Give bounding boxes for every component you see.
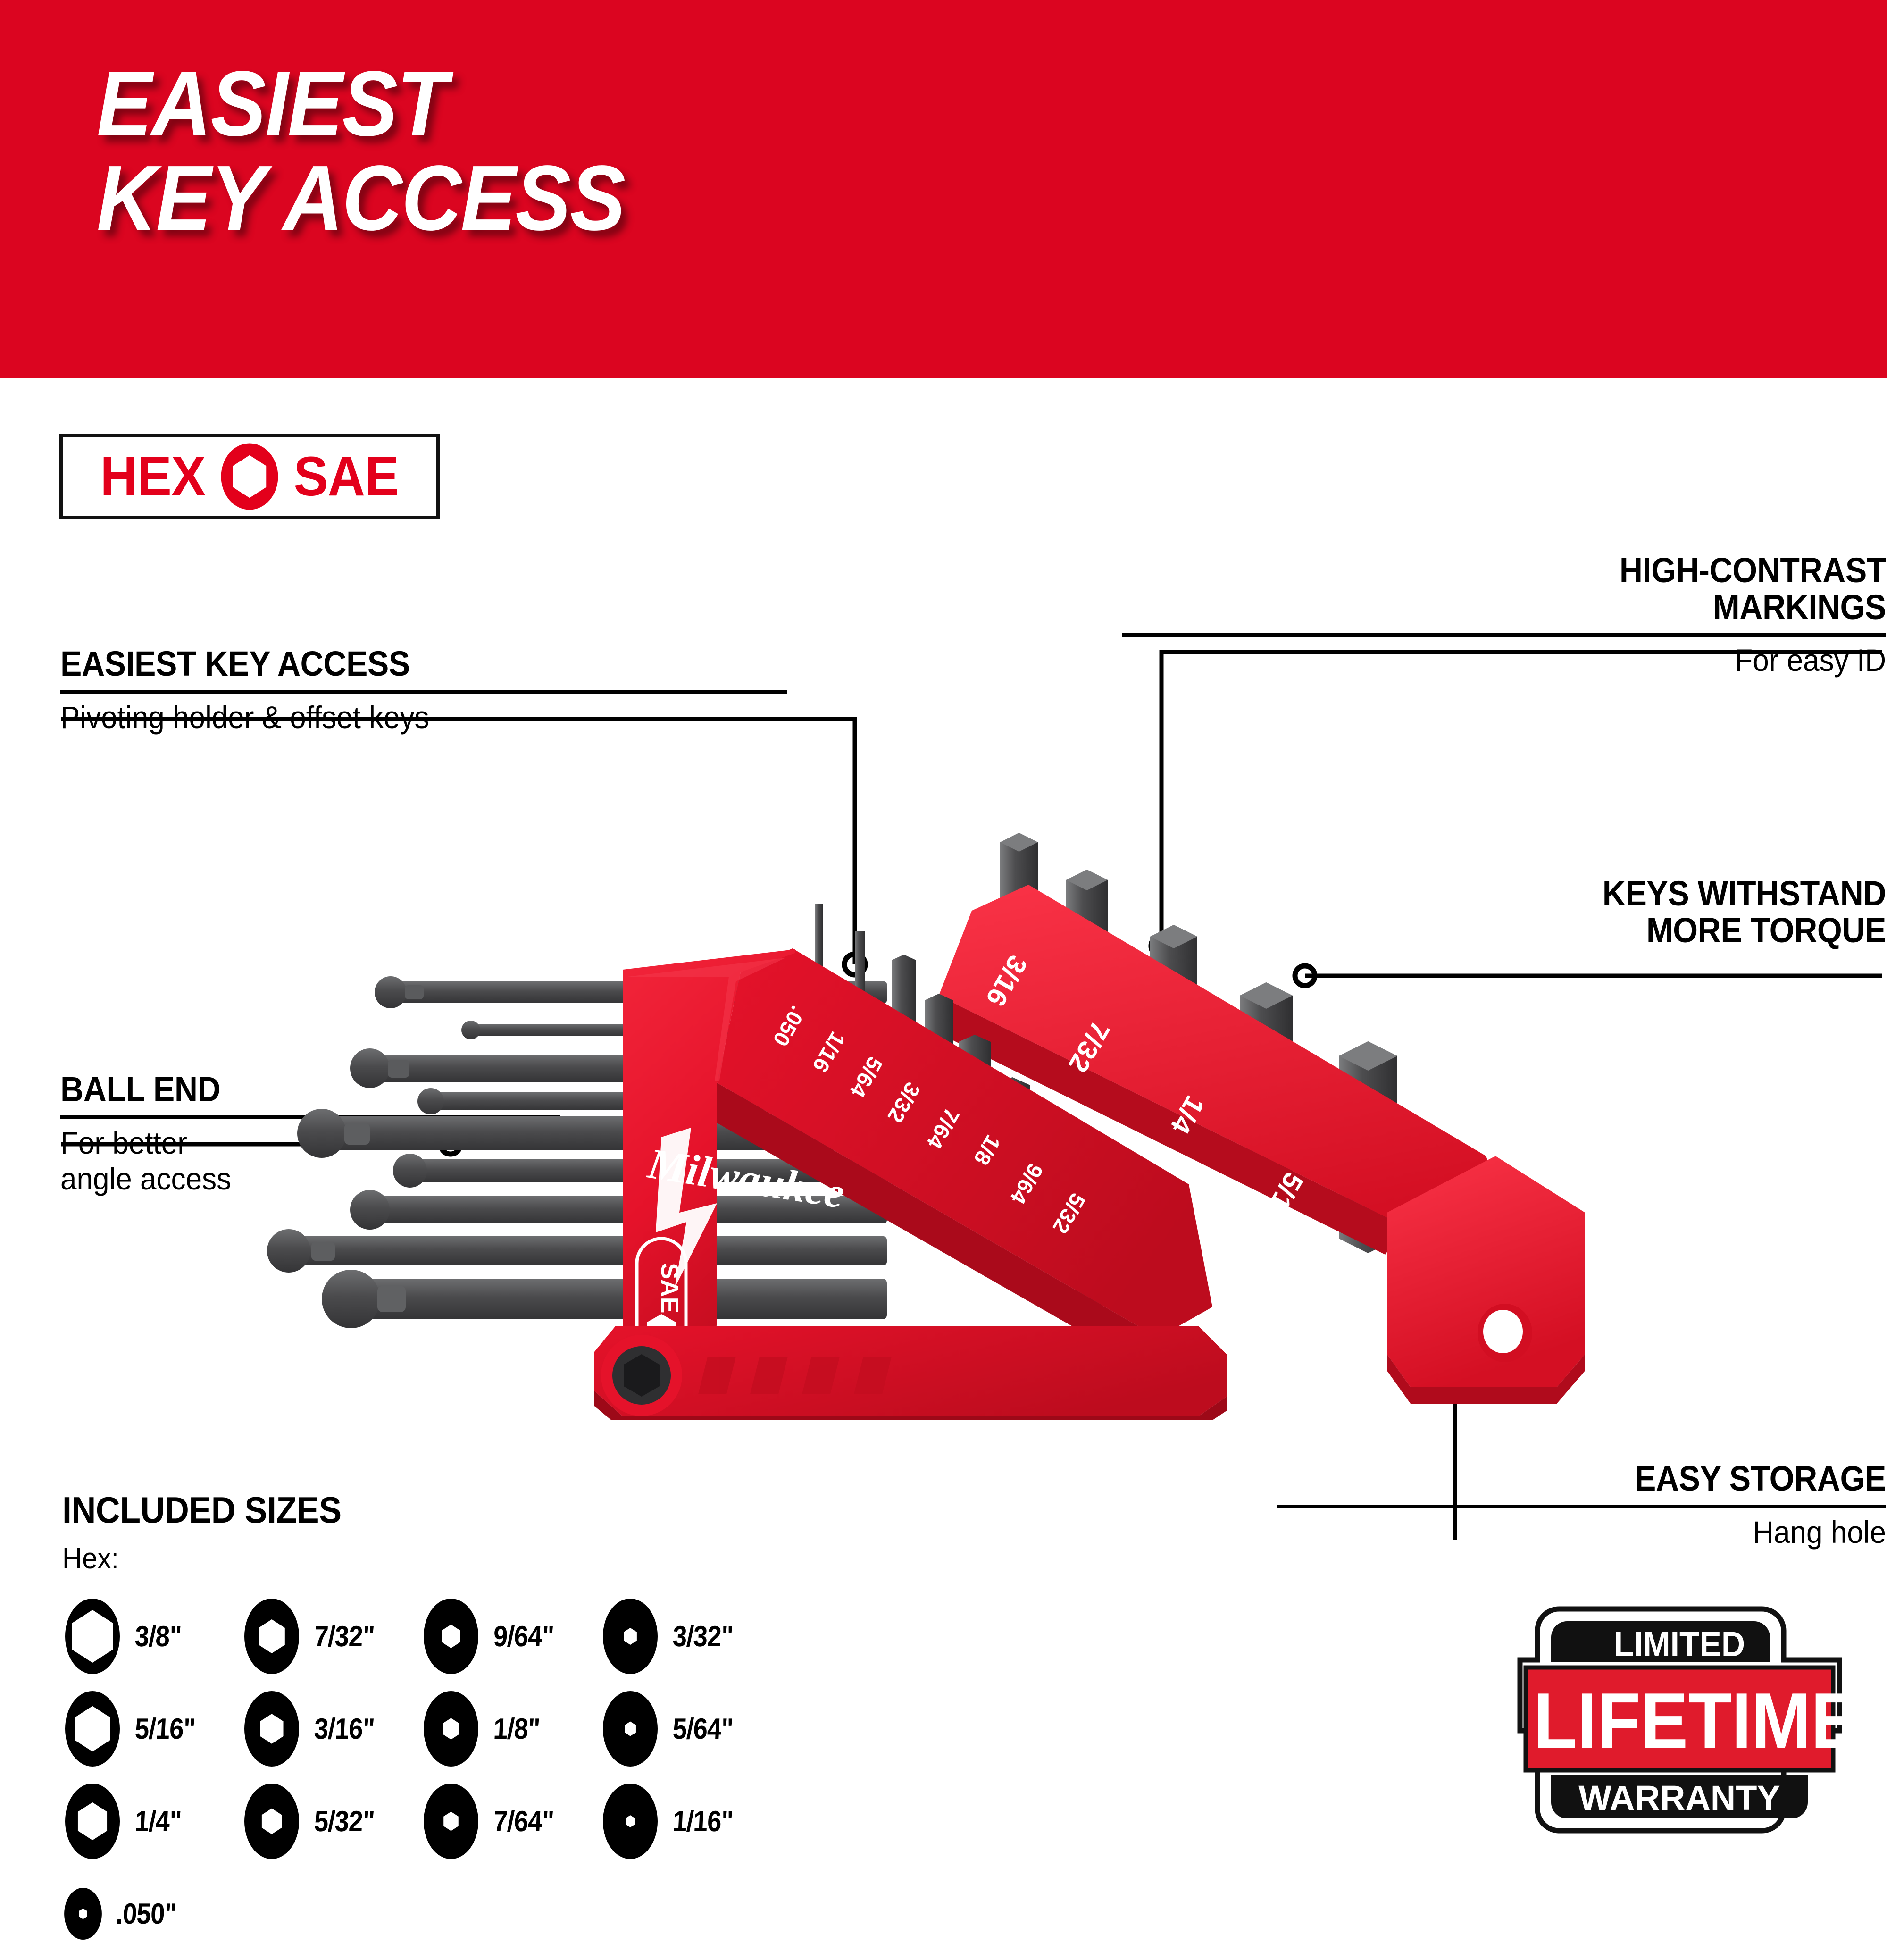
hex-size-icon	[242, 1782, 302, 1861]
hex-size-icon	[62, 1886, 104, 1941]
size-label: 7/64"	[493, 1805, 554, 1838]
size-label: 1/16"	[672, 1805, 734, 1838]
hex-size-icon	[421, 1597, 481, 1676]
size-label: 5/64"	[672, 1712, 734, 1746]
included-sizes-subheading: Hex:	[62, 1542, 119, 1575]
callout-high-contrast-markings: HIGH-CONTRAST MARKINGS For easy ID	[1122, 552, 1886, 678]
hex-size-icon	[421, 1689, 481, 1768]
warranty-line-warranty: WARRANTY	[1578, 1778, 1780, 1818]
hex-size-icon	[62, 1689, 123, 1768]
size-item: 5/64"	[600, 1689, 779, 1768]
hex-size-icon	[421, 1782, 481, 1861]
hex-size-icon	[600, 1689, 660, 1768]
pivot-socket	[601, 1335, 682, 1416]
size-label: 1/4"	[134, 1805, 182, 1838]
callout-desc: Hang hole	[1314, 1514, 1886, 1550]
callout-rule	[1277, 1505, 1886, 1508]
size-item: 5/16"	[62, 1689, 242, 1768]
size-item: 3/8"	[62, 1597, 242, 1676]
size-item: 3/32"	[600, 1597, 779, 1676]
size-item: 1/16"	[600, 1782, 779, 1861]
hex-size-icon	[600, 1782, 660, 1861]
callout-title: EASY STORAGE	[1326, 1460, 1886, 1497]
callout-rule	[1122, 633, 1886, 637]
size-label: 9/64"	[493, 1620, 554, 1653]
size-label: 3/32"	[672, 1620, 734, 1653]
size-item: 7/64"	[421, 1782, 600, 1861]
size-item: 7/32"	[242, 1597, 421, 1676]
limited-lifetime-warranty-badge: LIMITED LIFETIME WARRANTY	[1514, 1604, 1845, 1835]
size-label: .050"	[115, 1897, 177, 1931]
hang-hole	[1478, 1304, 1532, 1362]
hex-sae-right-word: SAE	[293, 449, 399, 504]
size-label: 5/32"	[313, 1805, 375, 1838]
size-item: 1/8"	[421, 1689, 600, 1768]
size-item: 1/4"	[62, 1782, 242, 1861]
hex-size-icon	[242, 1597, 302, 1676]
header-banner: EASIEST KEY ACCESS	[0, 0, 1887, 378]
hex-sae-badge: HEX SAE	[59, 434, 440, 519]
size-label: 1/8"	[493, 1712, 540, 1746]
hex-size-icon	[62, 1597, 123, 1676]
callout-rule	[60, 690, 787, 694]
size-label: 7/32"	[313, 1620, 375, 1653]
size-item: 5/32"	[242, 1782, 421, 1861]
size-item: 9/64"	[421, 1597, 600, 1676]
included-sizes-grid: 3/8"7/32"9/64"3/32"5/16"3/16"1/8"5/64"1/…	[62, 1590, 779, 1960]
callout-desc: Pivoting holder & offset keys	[60, 699, 743, 736]
product-image-hex-key-set: 3/16 7/32 1/4 5/16 3/8 .050 1/16 5/64 3/…	[264, 797, 1609, 1420]
size-item: .050"	[62, 1886, 242, 1941]
hex-size-icon	[62, 1782, 123, 1861]
hexagon-in-circle-icon	[220, 442, 279, 511]
hex-size-icon	[600, 1597, 660, 1676]
callout-title: HIGH-CONTRAST MARKINGS	[1183, 552, 1886, 625]
size-label: 5/16"	[134, 1712, 196, 1746]
hex-sae-left-word: HEX	[100, 449, 206, 504]
holder-base-bar	[594, 1326, 1227, 1420]
sae-badge-label: SAE	[656, 1263, 683, 1314]
callout-title: EASIEST KEY ACCESS	[60, 645, 729, 682]
size-label: 3/16"	[313, 1712, 375, 1746]
warranty-line-lifetime: LIFETIME	[1534, 1676, 1845, 1765]
callout-easiest-key-access: EASIEST KEY ACCESS Pivoting holder & off…	[60, 645, 787, 735]
warranty-line-limited: LIMITED	[1614, 1625, 1745, 1664]
size-label: 3/8"	[134, 1620, 182, 1653]
included-sizes-heading: INCLUDED SIZES	[62, 1489, 342, 1532]
hex-size-icon	[242, 1689, 302, 1768]
callout-easy-storage: EASY STORAGE Hang hole	[1277, 1460, 1886, 1550]
size-item: 3/16"	[242, 1689, 421, 1768]
page-title: EASIEST KEY ACCESS	[97, 57, 1031, 245]
callout-desc: For easy ID	[1168, 642, 1886, 678]
